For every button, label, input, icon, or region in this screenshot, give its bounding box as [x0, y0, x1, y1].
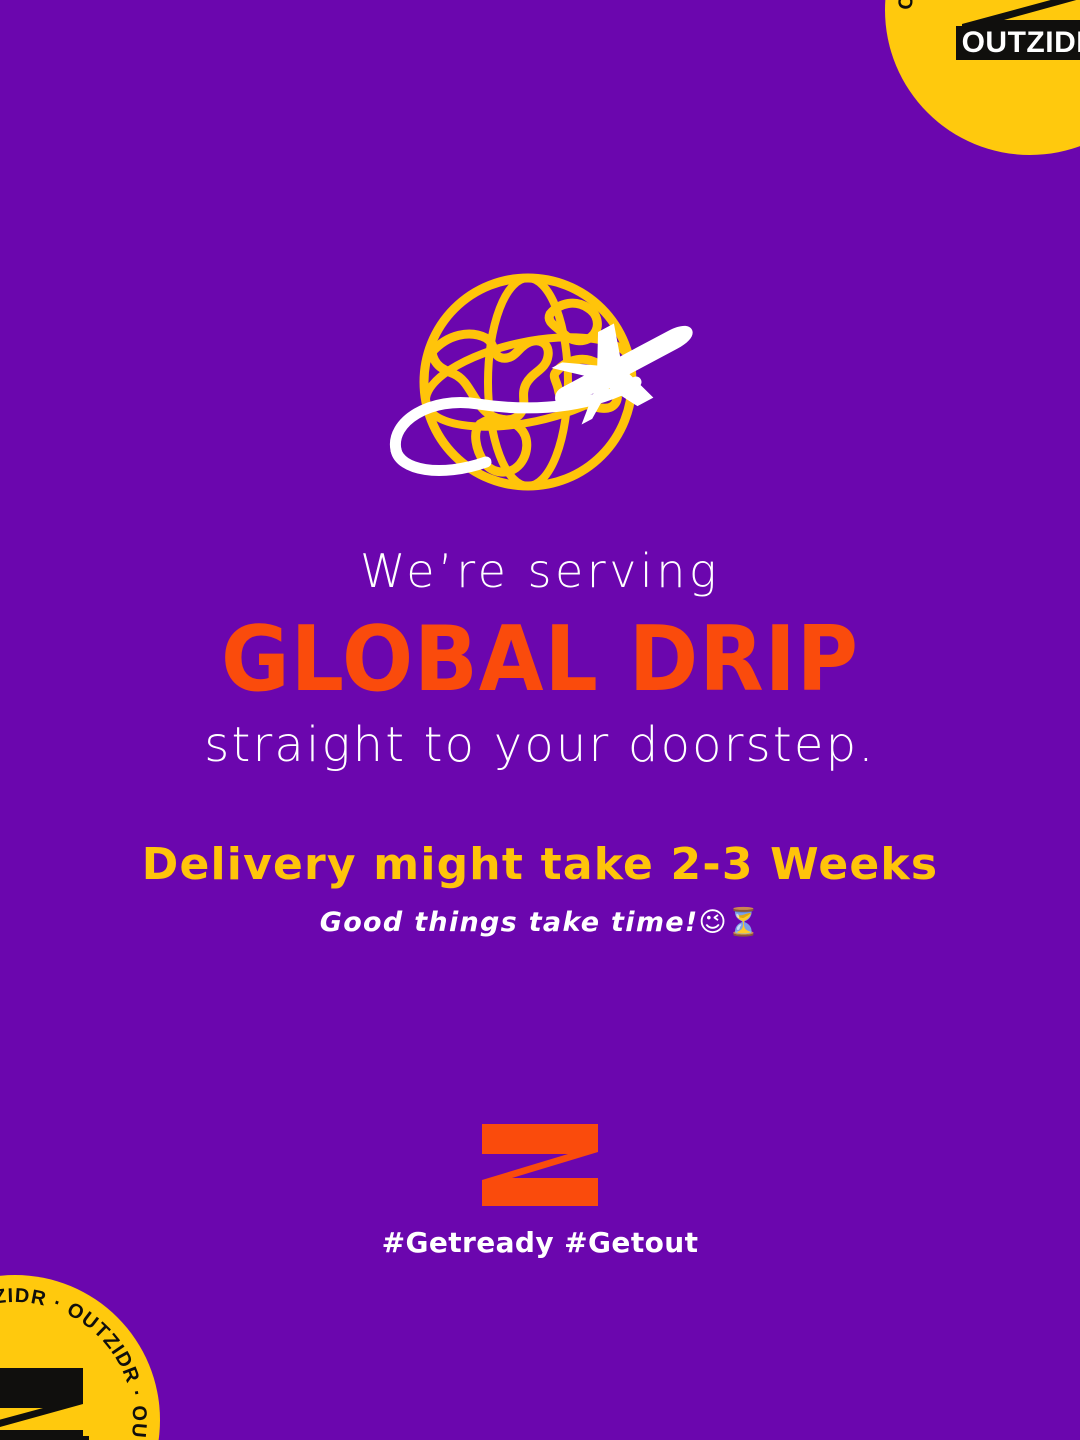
outzidr-badge-bottom-left: OUTZIDR · OUTZIDR · OUTZIDR · OUTZIDR · … — [0, 1275, 160, 1440]
badge-center-logo-top-right: OUTZIDR — [946, 0, 1080, 70]
wink-hourglass-emoji: 😉⏳ — [698, 907, 760, 938]
outzidr-badge-top-right: OUTZIDR · OUTZIDR · OUTZIDR · OUTZIDR · … — [885, 0, 1080, 155]
outzidr-z-mark: OUTZIDR — [0, 1360, 99, 1440]
delivery-subtext: Good things take time!😉⏳ — [0, 909, 1080, 936]
badge-center-logo-bottom-left: OUTZIDR — [0, 1360, 99, 1440]
delivery-note: Delivery might take 2-3 Weeks — [0, 843, 1080, 887]
headline-kicker: We’re serving — [0, 548, 1080, 594]
copy-block: We’re serving GLOBAL DRIP straight to yo… — [0, 548, 1080, 936]
globe-airplane-graphic — [360, 272, 720, 504]
badge-center-wordmark: OUTZIDR — [962, 26, 1080, 59]
delivery-subtext-label: Good things take time! — [320, 907, 699, 938]
orbit-swoosh-tail — [396, 450, 486, 471]
badge-center-wordmark: OUTZIDR — [0, 1436, 83, 1440]
headline-main: GLOBAL DRIP — [38, 610, 1042, 711]
headline-tail: straight to your doorstep. — [0, 721, 1080, 769]
outzidr-z-logo — [478, 1122, 602, 1208]
hashtags-text: #Getready #Getout — [0, 1226, 1080, 1259]
promo-poster: OUTZIDR · OUTZIDR · OUTZIDR · OUTZIDR · … — [0, 0, 1080, 1440]
globe-airplane-icon — [360, 272, 720, 504]
outzidr-z-mark: OUTZIDR — [946, 0, 1080, 70]
footer-block: #Getready #Getout — [0, 1122, 1080, 1259]
